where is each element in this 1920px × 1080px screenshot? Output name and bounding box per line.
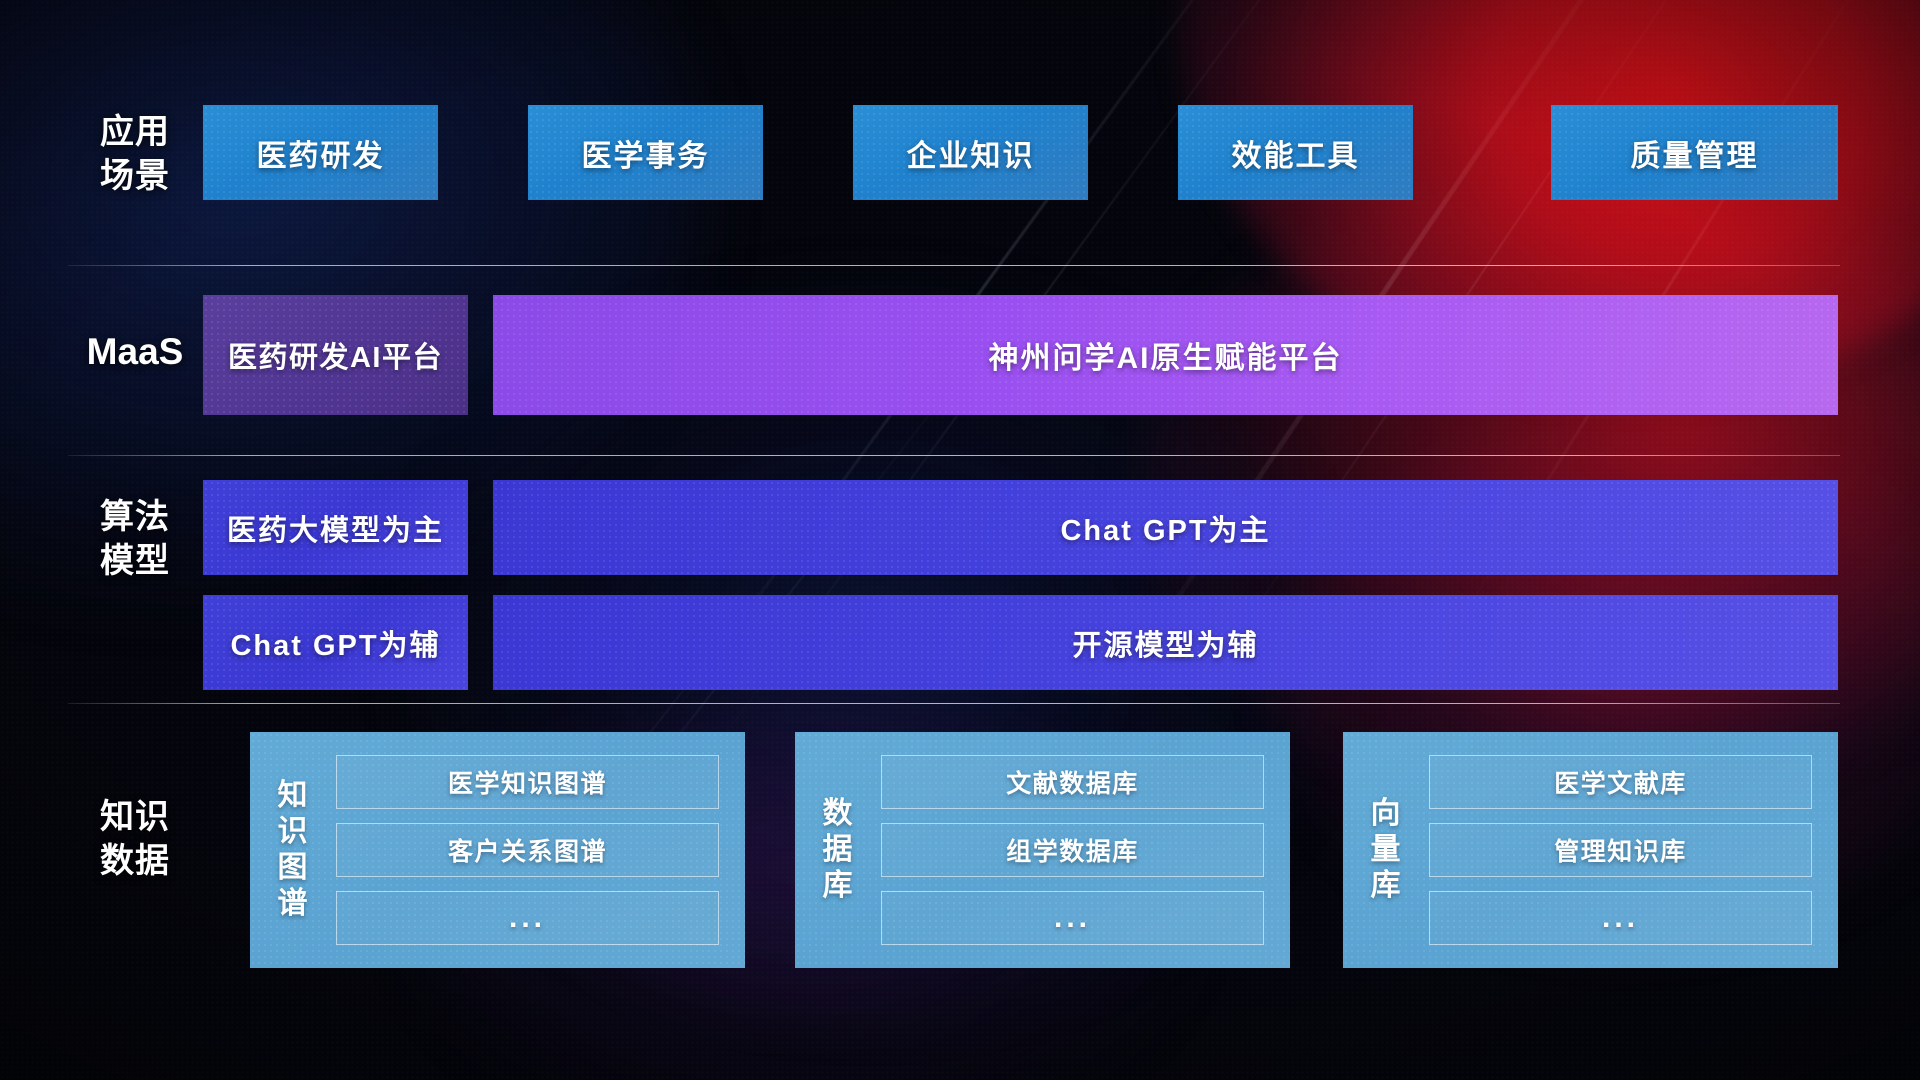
panel-item-more[interactable]: ... <box>336 891 719 945</box>
panel-item-more[interactable]: ... <box>881 891 1264 945</box>
panel-item[interactable]: 医学知识图谱 <box>336 755 719 809</box>
panel-item[interactable]: 客户关系图谱 <box>336 823 719 877</box>
maas-box-shenzhou-wenxue-platform[interactable]: 神州问学AI原生赋能平台 <box>493 295 1838 415</box>
app-box-quality-management[interactable]: 质量管理 <box>1551 105 1838 200</box>
panel-item-list: 文献数据库 组学数据库 ... <box>881 755 1290 945</box>
panel-item[interactable]: 医学文献库 <box>1429 755 1812 809</box>
diagram-content: 应用 场景 医药研发 医学事务 企业知识 效能工具 质量管理 MaaS 医药研发… <box>0 0 1920 1080</box>
row-label-maas: MaaS <box>60 330 210 374</box>
panel-item-more[interactable]: ... <box>1429 891 1812 945</box>
row-label-knowledge-data: 知识 数据 <box>60 795 210 883</box>
panel-item[interactable]: 组学数据库 <box>881 823 1264 877</box>
panel-vertical-label: 知 识 图 谱 <box>250 778 336 922</box>
row-label-application-scenarios: 应用 场景 <box>60 110 210 198</box>
panel-vertical-label: 数 据 库 <box>795 796 881 904</box>
app-box-medicine-rd[interactable]: 医药研发 <box>203 105 438 200</box>
algo-box-label: Chat GPT为主 <box>1060 507 1270 549</box>
app-box-label: 效能工具 <box>1232 131 1360 175</box>
algo-box-medicine-large-model-primary[interactable]: 医药大模型为主 <box>203 480 468 575</box>
app-box-label: 质量管理 <box>1631 131 1759 175</box>
algo-box-label: 医药大模型为主 <box>227 507 444 549</box>
algo-box-open-source-secondary[interactable]: 开源模型为辅 <box>493 595 1838 690</box>
app-box-medical-affairs[interactable]: 医学事务 <box>528 105 763 200</box>
app-box-label: 医药研发 <box>257 131 385 175</box>
maas-box-label: 医药研发AI平台 <box>228 334 443 376</box>
row-label-algorithm-model: 算法 模型 <box>60 495 210 583</box>
divider-1 <box>68 265 1840 266</box>
panel-vertical-label: 向 量 库 <box>1343 796 1429 904</box>
app-box-label: 医学事务 <box>582 131 710 175</box>
app-box-efficiency-tools[interactable]: 效能工具 <box>1178 105 1413 200</box>
algo-box-label: Chat GPT为辅 <box>230 622 440 664</box>
algo-box-chatgpt-secondary[interactable]: Chat GPT为辅 <box>203 595 468 690</box>
app-box-label: 企业知识 <box>907 131 1035 175</box>
divider-2 <box>68 455 1840 456</box>
knowledge-panel-knowledge-graph[interactable]: 知 识 图 谱 医学知识图谱 客户关系图谱 ... <box>250 732 745 968</box>
divider-3 <box>68 703 1840 704</box>
app-box-enterprise-knowledge[interactable]: 企业知识 <box>853 105 1088 200</box>
panel-item-list: 医学知识图谱 客户关系图谱 ... <box>336 755 745 945</box>
algo-box-chatgpt-primary[interactable]: Chat GPT为主 <box>493 480 1838 575</box>
maas-box-medicine-rd-ai-platform[interactable]: 医药研发AI平台 <box>203 295 468 415</box>
knowledge-panel-database[interactable]: 数 据 库 文献数据库 组学数据库 ... <box>795 732 1290 968</box>
panel-item[interactable]: 管理知识库 <box>1429 823 1812 877</box>
knowledge-panel-vector-db[interactable]: 向 量 库 医学文献库 管理知识库 ... <box>1343 732 1838 968</box>
maas-box-label: 神州问学AI原生赋能平台 <box>989 333 1343 377</box>
panel-item-list: 医学文献库 管理知识库 ... <box>1429 755 1838 945</box>
panel-item[interactable]: 文献数据库 <box>881 755 1264 809</box>
algo-box-label: 开源模型为辅 <box>1072 622 1258 664</box>
